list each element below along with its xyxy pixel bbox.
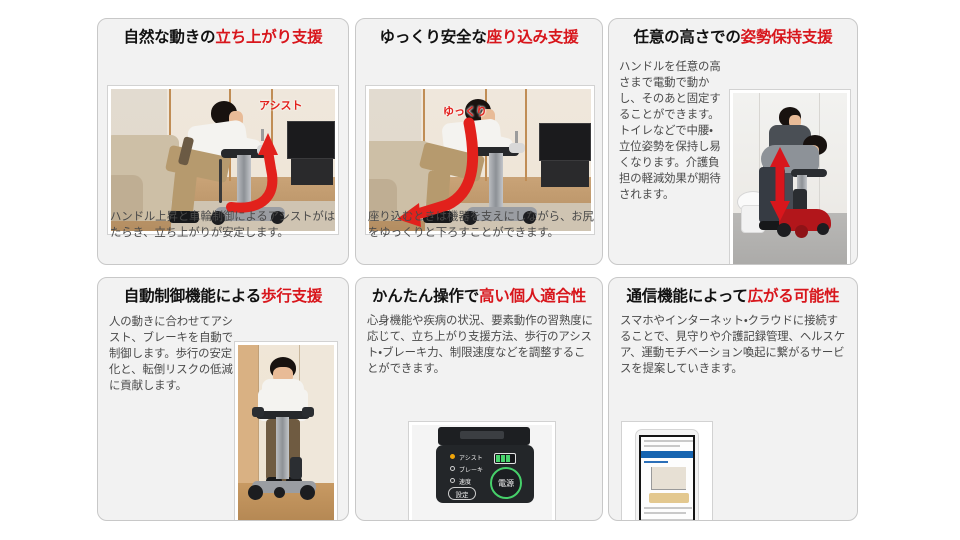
- card-easy-caption: 心身機能や疾病の状況、要素動作の習熟度に応じて、立ち上がり支援方法、歩行のアシス…: [367, 313, 593, 377]
- card-easy-title-red: 高い個人適合性: [479, 287, 586, 305]
- card-posture-caption: ハンドルを任意の高さまで電動で動かし、そのあと固定することができます。トイレなど…: [619, 59, 723, 203]
- card-easy-title: かんたん操作で高い個人適合性: [356, 278, 602, 311]
- card-standup-title: 自然な動きの立ち上がり支援: [98, 19, 348, 52]
- card-standup-caption: ハンドル上昇と車輪制御によるアシストがはたらき、立ち上がりが安定します。: [110, 209, 342, 241]
- setting-button[interactable]: 設定: [448, 487, 476, 500]
- mode-label-brake: ブレーキ: [459, 465, 483, 474]
- control-panel[interactable]: アシスト ブレーキ 速度 設定 電源: [436, 445, 534, 503]
- card-walk: 自動制御機能による歩行支援 人の動きに合わせてアシスト、ブレーキを自動で制御しま…: [97, 277, 349, 521]
- card-sitdown: ゆっくり安全な座り込み支援: [355, 18, 603, 265]
- height-adjust-arrow-icon: [733, 93, 847, 265]
- assist-arrow-label: アシスト: [259, 97, 303, 113]
- card-posture-title: 任意の高さでの姿勢保持支援: [609, 19, 857, 52]
- card-comm-title-black: 通信機能によって: [627, 287, 748, 305]
- battery-indicator: [494, 453, 516, 464]
- card-walk-photo: [234, 341, 338, 521]
- card-comm-tablet-photo: [621, 421, 713, 521]
- mode-indicator-speed: [450, 478, 455, 483]
- power-button[interactable]: 電源: [490, 467, 522, 499]
- card-comm: 通信機能によって広がる可能性 スマホやインターネット・クラウドに接続することで、…: [608, 277, 858, 521]
- card-standup-title-red: 立ち上がり支援: [215, 28, 322, 46]
- card-easy-title-black: かんたん操作で: [372, 287, 479, 305]
- card-walk-title-black: 自動制御機能による: [124, 287, 261, 305]
- card-walk-title-red: 歩行支援: [261, 287, 322, 305]
- card-posture: 任意の高さでの姿勢保持支援 ハンドルを任意の高さまで電動で動かし、そのあと固定す…: [608, 18, 858, 265]
- card-posture-title-black: 任意の高さでの: [634, 28, 741, 46]
- card-comm-title: 通信機能によって広がる可能性: [609, 278, 857, 311]
- card-walk-title: 自動制御機能による歩行支援: [98, 278, 348, 311]
- card-standup: 自然な動きの立ち上がり支援: [97, 18, 349, 265]
- card-standup-title-black: 自然な動きの: [124, 28, 216, 46]
- mode-label-assist: アシスト: [459, 453, 483, 462]
- card-sitdown-title: ゆっくり安全な座り込み支援: [356, 19, 602, 52]
- mode-indicator-brake: [450, 466, 455, 471]
- card-posture-title-red: 姿勢保持支援: [741, 28, 833, 46]
- card-easy: かんたん操作で高い個人適合性 心身機能や疾病の状況、要素動作の習熟度に応じて、立…: [355, 277, 603, 521]
- card-sitdown-title-red: 座り込み支援: [487, 28, 579, 46]
- card-walk-caption: 人の動きに合わせてアシスト、ブレーキを自動で制御します。歩行の安定化と、転倒リス…: [109, 314, 237, 394]
- card-sitdown-title-black: ゆっくり安全な: [380, 28, 487, 46]
- feature-grid: 自然な動きの立ち上がり支援: [0, 0, 960, 540]
- card-easy-photo: アシスト ブレーキ 速度 設定 電源: [408, 421, 556, 521]
- mode-indicator-assist: [450, 454, 455, 459]
- slow-arrow-label: ゆっくり: [443, 103, 487, 119]
- mode-label-speed: 速度: [459, 477, 471, 486]
- card-comm-title-red: 広がる可能性: [748, 287, 840, 305]
- card-sitdown-caption: 座り込むときは機器を支えにしながら、お尻をゆっくりと下ろすことができます。: [368, 209, 598, 241]
- card-comm-caption: スマホやインターネット・クラウドに接続することで、見守りや介護記録管理、ヘルスケ…: [620, 313, 848, 377]
- card-posture-photo: [729, 89, 851, 265]
